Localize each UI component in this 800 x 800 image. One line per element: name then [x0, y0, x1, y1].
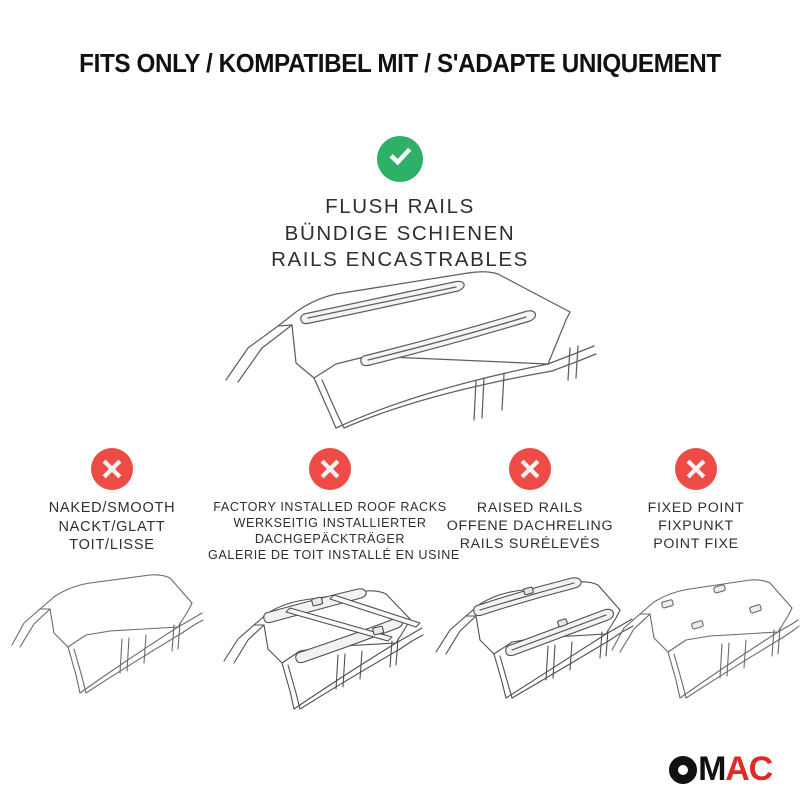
incompatible-label-fr: RAILS SURÉLEVÉS — [438, 535, 622, 553]
x-circle-icon — [675, 448, 717, 490]
incompatible-label-fr: TOIT/LISSE — [12, 536, 212, 555]
x-circle-icon — [509, 448, 551, 490]
car-roof-naked-smooth-illustration — [10, 563, 205, 698]
check-circle-icon — [377, 136, 423, 182]
compatible-section: FLUSH RAILS BÜNDIGE SCHIENEN RAILS ENCAS… — [0, 136, 800, 274]
compatibility-infographic: FITS ONLY / KOMPATIBEL MIT / S'ADAPTE UN… — [0, 0, 800, 800]
incompatible-labels: FACTORY INSTALLED ROOF RACKS WERKSEITIG … — [208, 499, 452, 563]
incompatible-labels: NAKED/SMOOTH NACKT/GLATT TOIT/LISSE — [12, 499, 212, 555]
incompatible-label-fr: POINT FIXE — [616, 535, 776, 553]
incompatible-label-en: NAKED/SMOOTH — [12, 499, 212, 518]
incompatible-label-en: FIXED POINT — [616, 499, 776, 517]
omac-logo-red-part: AC — [725, 752, 772, 786]
incompatible-label-de-1: WERKSEITIG INSTALLIERTER — [208, 515, 452, 531]
incompatible-labels: RAISED RAILS OFFENE DACHRELING RAILS SUR… — [438, 499, 622, 554]
omac-logo-black-part: M — [698, 752, 725, 786]
incompatible-item-fixed-point: FIXED POINT FIXPUNKT POINT FIXE — [616, 448, 776, 702]
omac-logo-o — [669, 756, 697, 784]
car-roof-raised-rails-illustration — [432, 562, 638, 702]
incompatible-labels: FIXED POINT FIXPUNKT POINT FIXE — [616, 499, 776, 554]
incompatible-label-de: FIXPUNKT — [616, 517, 776, 535]
omac-logo: MAC — [669, 752, 772, 786]
car-roof-flush-rails-illustration — [218, 268, 602, 430]
compatible-label-de: BÜNDIGE SCHIENEN — [0, 221, 800, 248]
incompatible-label-de: OFFENE DACHRELING — [438, 517, 622, 535]
incompatible-item-factory-rack: FACTORY INSTALLED ROOF RACKS WERKSEITIG … — [208, 448, 452, 713]
incompatible-label-de-2: DACHGEPÄCKTRÄGER — [208, 531, 452, 547]
header: FITS ONLY / KOMPATIBEL MIT / S'ADAPTE UN… — [0, 50, 800, 79]
incompatible-item-raised-rails: RAISED RAILS OFFENE DACHRELING RAILS SUR… — [438, 448, 622, 702]
incompatible-item-naked-smooth: NAKED/SMOOTH NACKT/GLATT TOIT/LISSE — [12, 448, 212, 698]
page-title: FITS ONLY / KOMPATIBEL MIT / S'ADAPTE UN… — [20, 50, 780, 79]
x-circle-icon — [309, 448, 351, 490]
x-circle-icon — [91, 448, 133, 490]
incompatible-section: NAKED/SMOOTH NACKT/GLATT TOIT/LISSE — [0, 448, 800, 748]
compatible-label-en: FLUSH RAILS — [0, 194, 800, 221]
incompatible-label-fr: GALERIE DE TOIT INSTALLÉ EN USINE — [208, 547, 452, 563]
incompatible-label-en: FACTORY INSTALLED ROOF RACKS — [208, 499, 452, 515]
car-roof-factory-rack-illustration — [220, 571, 430, 713]
car-roof-fixed-point-illustration — [610, 562, 800, 702]
incompatible-label-de: NACKT/GLATT — [12, 518, 212, 537]
incompatible-label-en: RAISED RAILS — [438, 499, 622, 517]
compatible-labels: FLUSH RAILS BÜNDIGE SCHIENEN RAILS ENCAS… — [0, 194, 800, 274]
